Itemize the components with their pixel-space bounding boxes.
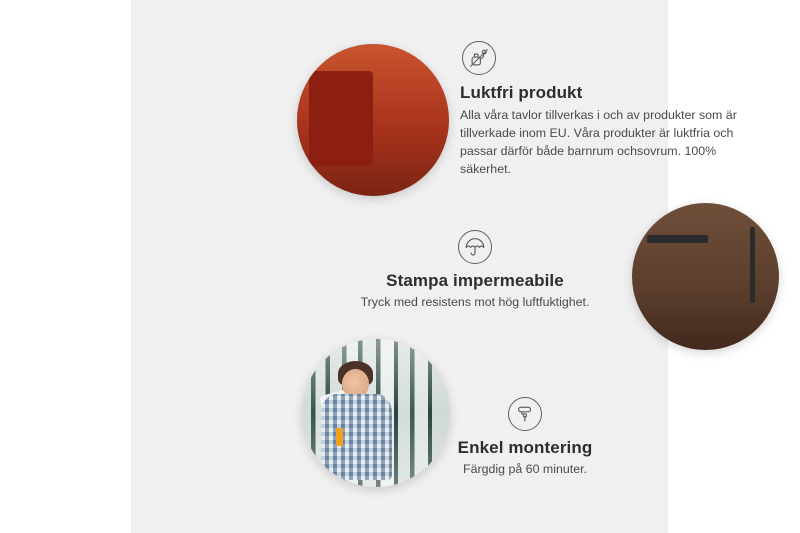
feature-panel-screenshot: Luktfri produkt Alla våra tavlor tillver…: [0, 0, 800, 533]
feature-easy-mounting: Enkel montering Färgdig på 60 minuter.: [419, 397, 631, 479]
feature-title: Stampa impermeabile: [341, 271, 609, 291]
feature-description: Tryck med resistens mot hög luftfuktighe…: [341, 294, 609, 312]
roller-grip-shape: [336, 428, 343, 446]
feature-waterproof: Stampa impermeabile Tryck med resistens …: [341, 230, 609, 312]
content-panel: Luktfri produkt Alla våra tavlor tillver…: [131, 0, 668, 533]
feature-title: Luktfri produkt: [460, 83, 760, 103]
product-photo-sea[interactable]: [297, 44, 449, 196]
feature-odour-free: Luktfri produkt Alla våra tavlor tillver…: [460, 41, 760, 179]
paint-roller-icon: [508, 397, 542, 431]
feature-description: Färgdig på 60 minuter.: [419, 461, 631, 479]
no-fragrance-icon: [462, 41, 496, 75]
feature-description: Alla våra tavlor tillverkas i och av pro…: [460, 107, 760, 179]
woman-body-shape: [321, 394, 392, 480]
cabinet-layer: [632, 203, 779, 350]
feature-title: Enkel montering: [419, 438, 631, 458]
umbrella-icon: [458, 230, 492, 264]
sea-foreground-furniture: [297, 44, 449, 196]
product-photo-bathroom[interactable]: [632, 203, 779, 350]
